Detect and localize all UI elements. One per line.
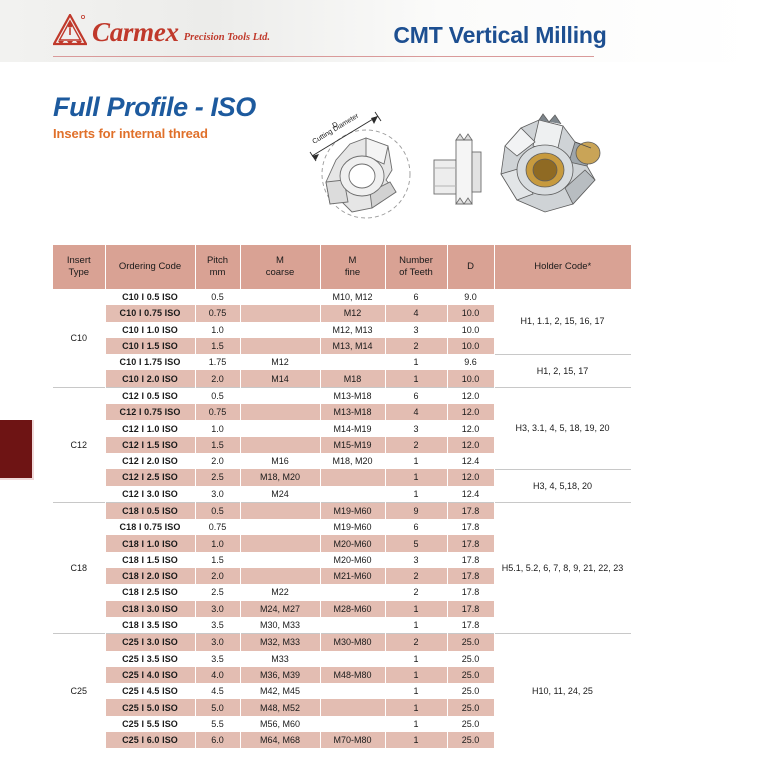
pitch-cell: 1.0 xyxy=(195,420,240,436)
insert-type-cell: C25 xyxy=(53,634,105,749)
m-coarse-cell: M22 xyxy=(240,584,320,600)
m-fine-cell xyxy=(320,651,385,667)
insert-type-cell: C10 xyxy=(53,289,105,387)
table-header-cell-7: Holder Code* xyxy=(494,245,631,289)
diameter-cell: 12.0 xyxy=(447,404,494,420)
diameter-cell: 17.8 xyxy=(447,502,494,519)
m-coarse-cell xyxy=(240,437,320,453)
teeth-cell: 1 xyxy=(385,683,447,699)
pitch-cell: 1.0 xyxy=(195,322,240,338)
m-coarse-cell xyxy=(240,420,320,436)
ordering-code-cell: C12 I 1.0 ISO xyxy=(105,420,195,436)
brand-name: Carmex xyxy=(92,19,179,46)
diameter-cell: 25.0 xyxy=(447,667,494,683)
m-coarse-cell xyxy=(240,289,320,305)
pitch-cell: 2.0 xyxy=(195,453,240,469)
diameter-cell: 10.0 xyxy=(447,338,494,354)
m-fine-cell xyxy=(320,699,385,715)
table-header-cell-1: Ordering Code xyxy=(105,245,195,289)
table-row: C12 I 2.5 ISO2.5M18, M20 112.0H3, 4, 5,1… xyxy=(53,469,631,485)
holder-code-cell: H1, 1.1, 2, 15, 16, 17 xyxy=(494,289,631,354)
diameter-cell: 12.4 xyxy=(447,453,494,469)
m-coarse-cell: M16 xyxy=(240,453,320,469)
ordering-code-cell: C10 I 1.0 ISO xyxy=(105,322,195,338)
m-fine-cell: M19-M60 xyxy=(320,519,385,535)
m-coarse-cell xyxy=(240,338,320,354)
teeth-cell: 2 xyxy=(385,634,447,651)
m-fine-cell xyxy=(320,354,385,370)
pitch-cell: 0.5 xyxy=(195,502,240,519)
m-coarse-cell: M24 xyxy=(240,486,320,503)
m-fine-cell xyxy=(320,617,385,634)
table-header-cell-6: D xyxy=(447,245,494,289)
ordering-code-cell: C18 I 3.5 ISO xyxy=(105,617,195,634)
table-header-cell-4: Mfine xyxy=(320,245,385,289)
page-subtitle: Inserts for internal thread xyxy=(53,126,208,141)
pitch-cell: 4.5 xyxy=(195,683,240,699)
m-fine-cell: M21-M60 xyxy=(320,568,385,584)
ordering-code-cell: C18 I 1.0 ISO xyxy=(105,535,195,551)
m-coarse-cell: M36, M39 xyxy=(240,667,320,683)
teeth-cell: 6 xyxy=(385,519,447,535)
diameter-cell: 12.0 xyxy=(447,420,494,436)
ordering-code-cell: C10 I 1.5 ISO xyxy=(105,338,195,354)
diameter-cell: 10.0 xyxy=(447,322,494,338)
m-fine-cell: M28-M60 xyxy=(320,601,385,617)
diameter-cell: 17.8 xyxy=(447,519,494,535)
m-fine-cell: M13-M18 xyxy=(320,404,385,420)
teeth-cell: 3 xyxy=(385,420,447,436)
ordering-code-cell: C18 I 0.75 ISO xyxy=(105,519,195,535)
ordering-code-cell: C18 I 3.0 ISO xyxy=(105,601,195,617)
table-header-row: InsertTypeOrdering CodePitchmmMcoarseMfi… xyxy=(53,245,631,289)
m-fine-cell: M30-M80 xyxy=(320,634,385,651)
carmex-triangle-logo-icon xyxy=(53,14,87,47)
m-coarse-cell: M32, M33 xyxy=(240,634,320,651)
teeth-cell: 2 xyxy=(385,338,447,354)
table-row: C10 I 1.75 ISO1.75M12 19.6H1, 2, 15, 17 xyxy=(53,354,631,370)
m-fine-cell: M10, M12 xyxy=(320,289,385,305)
table-row: C18C18 I 0.5 ISO0.5 M19-M60917.8H5.1, 5.… xyxy=(53,502,631,519)
diameter-cell: 17.8 xyxy=(447,568,494,584)
teeth-cell: 4 xyxy=(385,404,447,420)
teeth-cell: 1 xyxy=(385,601,447,617)
milling-tool-3d-render xyxy=(487,112,603,220)
ordering-code-cell: C12 I 3.0 ISO xyxy=(105,486,195,503)
m-coarse-cell xyxy=(240,322,320,338)
m-fine-cell: M12 xyxy=(320,305,385,321)
m-fine-cell: M14-M19 xyxy=(320,420,385,436)
teeth-cell: 1 xyxy=(385,699,447,715)
ordering-code-cell: C25 I 4.5 ISO xyxy=(105,683,195,699)
teeth-cell: 9 xyxy=(385,502,447,519)
ordering-code-cell: C18 I 0.5 ISO xyxy=(105,502,195,519)
m-coarse-cell xyxy=(240,502,320,519)
diameter-cell: 12.0 xyxy=(447,437,494,453)
m-fine-cell: M20-M60 xyxy=(320,535,385,551)
m-fine-cell: M13-M18 xyxy=(320,387,385,404)
pitch-cell: 1.75 xyxy=(195,354,240,370)
m-coarse-cell xyxy=(240,404,320,420)
m-fine-cell xyxy=(320,469,385,485)
holder-code-cell: H3, 4, 5,18, 20 xyxy=(494,469,631,502)
diameter-cell: 12.4 xyxy=(447,486,494,503)
ordering-code-cell: C25 I 3.0 ISO xyxy=(105,634,195,651)
m-fine-cell: M48-M80 xyxy=(320,667,385,683)
pitch-cell: 3.0 xyxy=(195,486,240,503)
table-row: C12C12 I 0.5 ISO0.5 M13-M18612.0H3, 3.1,… xyxy=(53,387,631,404)
table-header-cell-2: Pitchmm xyxy=(195,245,240,289)
spec-table: InsertTypeOrdering CodePitchmmMcoarseMfi… xyxy=(53,245,632,748)
m-fine-cell xyxy=(320,716,385,732)
pitch-cell: 6.0 xyxy=(195,732,240,748)
diameter-cell: 12.0 xyxy=(447,387,494,404)
pitch-cell: 2.5 xyxy=(195,469,240,485)
m-coarse-cell xyxy=(240,519,320,535)
insert-side-view xyxy=(430,128,486,220)
ordering-code-cell: C12 I 0.75 ISO xyxy=(105,404,195,420)
holder-code-cell: H1, 2, 15, 17 xyxy=(494,354,631,387)
m-coarse-cell xyxy=(240,387,320,404)
teeth-cell: 2 xyxy=(385,584,447,600)
carmex-logo: Carmex Precision Tools Ltd. xyxy=(53,14,270,47)
m-coarse-cell: M14 xyxy=(240,370,320,387)
diameter-cell: 25.0 xyxy=(447,699,494,715)
teeth-cell: 6 xyxy=(385,289,447,305)
pitch-cell: 0.75 xyxy=(195,305,240,321)
ordering-code-cell: C12 I 0.5 ISO xyxy=(105,387,195,404)
teeth-cell: 1 xyxy=(385,486,447,503)
ordering-code-cell: C25 I 4.0 ISO xyxy=(105,667,195,683)
m-fine-cell: M18 xyxy=(320,370,385,387)
table-header-cell-5: Numberof Teeth xyxy=(385,245,447,289)
ordering-code-cell: C12 I 2.5 ISO xyxy=(105,469,195,485)
table-row: C25C25 I 3.0 ISO3.0M32, M33M30-M80225.0H… xyxy=(53,634,631,651)
pitch-cell: 2.0 xyxy=(195,568,240,584)
m-coarse-cell xyxy=(240,568,320,584)
diameter-cell: 12.0 xyxy=(447,469,494,485)
table-header-cell-0: InsertType xyxy=(53,245,105,289)
table-body: C10C10 I 0.5 ISO0.5 M10, M1269.0H1, 1.1,… xyxy=(53,289,631,748)
m-fine-cell: M18, M20 xyxy=(320,453,385,469)
holder-code-cell: H10, 11, 24, 25 xyxy=(494,634,631,749)
m-coarse-cell: M33 xyxy=(240,651,320,667)
teeth-cell: 1 xyxy=(385,453,447,469)
m-coarse-cell: M18, M20 xyxy=(240,469,320,485)
ordering-code-cell: C12 I 1.5 ISO xyxy=(105,437,195,453)
diameter-cell: 10.0 xyxy=(447,305,494,321)
m-coarse-cell: M56, M60 xyxy=(240,716,320,732)
m-fine-cell xyxy=(320,683,385,699)
diameter-cell: 9.6 xyxy=(447,354,494,370)
diagram-label-cutting-diameter: Cutting Diameter xyxy=(311,112,360,145)
pitch-cell: 3.0 xyxy=(195,601,240,617)
ordering-code-cell: C10 I 1.75 ISO xyxy=(105,354,195,370)
brand-tagline: Precision Tools Ltd. xyxy=(184,33,270,44)
teeth-cell: 1 xyxy=(385,354,447,370)
pitch-cell: 1.5 xyxy=(195,338,240,354)
spec-table-container: InsertTypeOrdering CodePitchmmMcoarseMfi… xyxy=(53,245,631,748)
page-title: Full Profile - ISO xyxy=(53,92,256,123)
table-header-cell-3: Mcoarse xyxy=(240,245,320,289)
pitch-cell: 0.5 xyxy=(195,289,240,305)
teeth-cell: 6 xyxy=(385,387,447,404)
ordering-code-cell: C10 I 2.0 ISO xyxy=(105,370,195,387)
ordering-code-cell: C10 I 0.5 ISO xyxy=(105,289,195,305)
ordering-code-cell: C25 I 5.5 ISO xyxy=(105,716,195,732)
teeth-cell: 3 xyxy=(385,552,447,568)
teeth-cell: 2 xyxy=(385,437,447,453)
holder-code-cell: H5.1, 5.2, 6, 7, 8, 9, 21, 22, 23 xyxy=(494,502,631,633)
teeth-cell: 1 xyxy=(385,716,447,732)
pitch-cell: 2.5 xyxy=(195,584,240,600)
pitch-cell: 4.0 xyxy=(195,667,240,683)
ordering-code-cell: C12 I 2.0 ISO xyxy=(105,453,195,469)
m-coarse-cell: M48, M52 xyxy=(240,699,320,715)
m-fine-cell: M13, M14 xyxy=(320,338,385,354)
ordering-code-cell: C18 I 2.5 ISO xyxy=(105,584,195,600)
teeth-cell: 1 xyxy=(385,370,447,387)
ordering-code-cell: C25 I 5.0 ISO xyxy=(105,699,195,715)
diameter-cell: 25.0 xyxy=(447,732,494,748)
insert-type-cell: C18 xyxy=(53,502,105,633)
diameter-cell: 25.0 xyxy=(447,651,494,667)
diameter-cell: 17.8 xyxy=(447,584,494,600)
m-coarse-cell xyxy=(240,535,320,551)
teeth-cell: 1 xyxy=(385,469,447,485)
m-fine-cell: M70-M80 xyxy=(320,732,385,748)
pitch-cell: 1.5 xyxy=(195,552,240,568)
pitch-cell: 0.5 xyxy=(195,387,240,404)
m-fine-cell xyxy=(320,486,385,503)
pitch-cell: 1.0 xyxy=(195,535,240,551)
section-side-tab xyxy=(0,420,34,480)
diameter-cell: 10.0 xyxy=(447,370,494,387)
teeth-cell: 5 xyxy=(385,535,447,551)
teeth-cell: 1 xyxy=(385,732,447,748)
m-coarse-cell xyxy=(240,305,320,321)
m-coarse-cell: M12 xyxy=(240,354,320,370)
m-coarse-cell: M64, M68 xyxy=(240,732,320,748)
m-coarse-cell xyxy=(240,552,320,568)
diameter-cell: 17.8 xyxy=(447,552,494,568)
teeth-cell: 4 xyxy=(385,305,447,321)
pitch-cell: 0.75 xyxy=(195,519,240,535)
diameter-cell: 17.8 xyxy=(447,601,494,617)
insert-type-cell: C12 xyxy=(53,387,105,502)
pitch-cell: 1.5 xyxy=(195,437,240,453)
diameter-cell: 9.0 xyxy=(447,289,494,305)
m-coarse-cell: M24, M27 xyxy=(240,601,320,617)
teeth-cell: 3 xyxy=(385,322,447,338)
teeth-cell: 1 xyxy=(385,651,447,667)
table-row: C10C10 I 0.5 ISO0.5 M10, M1269.0H1, 1.1,… xyxy=(53,289,631,305)
ordering-code-cell: C18 I 1.5 ISO xyxy=(105,552,195,568)
m-fine-cell: M20-M60 xyxy=(320,552,385,568)
pitch-cell: 5.0 xyxy=(195,699,240,715)
m-coarse-cell: M42, M45 xyxy=(240,683,320,699)
m-fine-cell: M19-M60 xyxy=(320,502,385,519)
ordering-code-cell: C10 I 0.75 ISO xyxy=(105,305,195,321)
pitch-cell: 3.0 xyxy=(195,634,240,651)
pitch-cell: 3.5 xyxy=(195,617,240,634)
ordering-code-cell: C18 I 2.0 ISO xyxy=(105,568,195,584)
teeth-cell: 1 xyxy=(385,667,447,683)
pitch-cell: 5.5 xyxy=(195,716,240,732)
m-fine-cell: M15-M19 xyxy=(320,437,385,453)
teeth-cell: 2 xyxy=(385,568,447,584)
m-fine-cell xyxy=(320,584,385,600)
pitch-cell: 0.75 xyxy=(195,404,240,420)
m-coarse-cell: M30, M33 xyxy=(240,617,320,634)
diameter-cell: 25.0 xyxy=(447,683,494,699)
insert-cutting-diameter-diagram: D Cutting Diameter xyxy=(300,108,425,226)
header-divider xyxy=(53,56,594,57)
pitch-cell: 2.0 xyxy=(195,370,240,387)
holder-code-cell: H3, 3.1, 4, 5, 18, 19, 20 xyxy=(494,387,631,469)
diameter-cell: 25.0 xyxy=(447,634,494,651)
diameter-cell: 17.8 xyxy=(447,535,494,551)
ordering-code-cell: C25 I 6.0 ISO xyxy=(105,732,195,748)
ordering-code-cell: C25 I 3.5 ISO xyxy=(105,651,195,667)
pitch-cell: 3.5 xyxy=(195,651,240,667)
diameter-cell: 17.8 xyxy=(447,617,494,634)
diameter-cell: 25.0 xyxy=(447,716,494,732)
page-header: Carmex Precision Tools Ltd. CMT Vertical… xyxy=(0,0,759,62)
header-title: CMT Vertical Milling xyxy=(360,22,640,49)
teeth-cell: 1 xyxy=(385,617,447,634)
m-fine-cell: M12, M13 xyxy=(320,322,385,338)
